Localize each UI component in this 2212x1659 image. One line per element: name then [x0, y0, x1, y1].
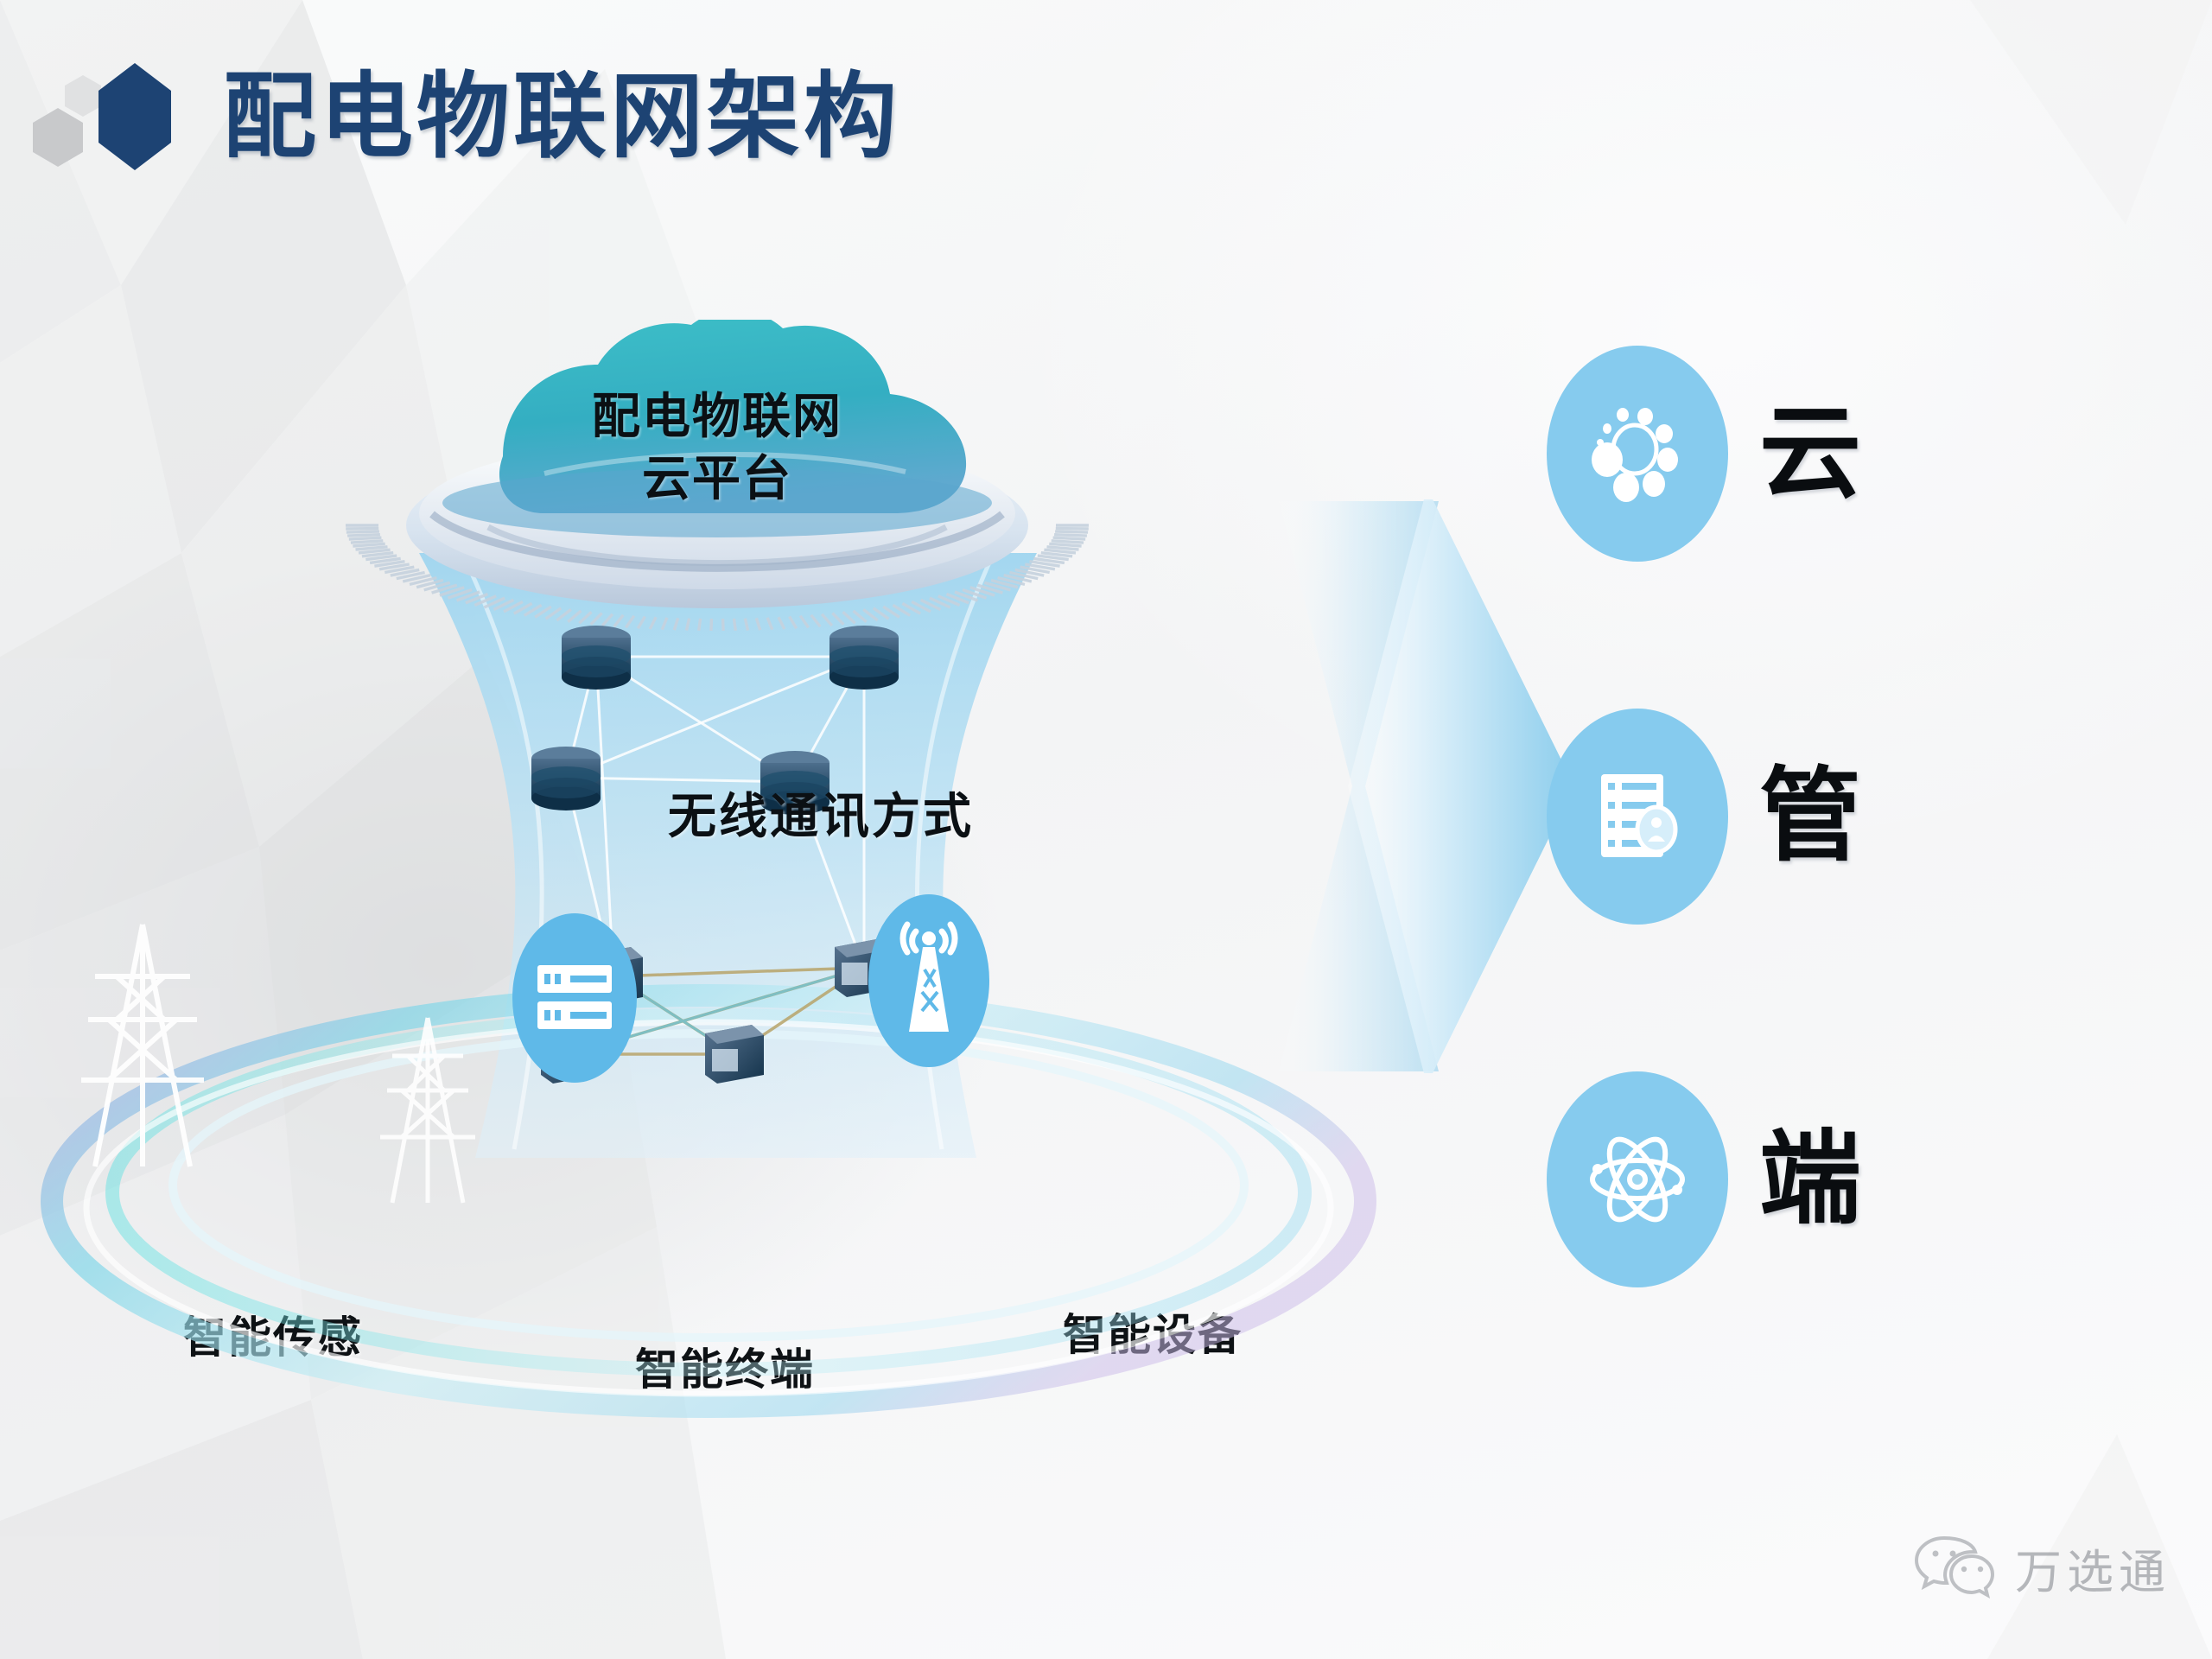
- field-device-layer: [0, 950, 1400, 1512]
- legend-label-edge: 端: [1759, 1128, 1863, 1230]
- watermark-label: 万选通: [2015, 1534, 2171, 1602]
- wireless-network-label: 无线通讯方式: [518, 778, 1123, 848]
- cloud-label-line1: 配电物联网: [285, 385, 1149, 448]
- atom-icon: [1547, 1071, 1728, 1287]
- legend-ellipse-pipe: [1547, 709, 1728, 925]
- cloud-dots-cluster-icon: [1547, 346, 1728, 562]
- legend-item-cloud[interactable]: 云: [1547, 346, 1863, 562]
- cloud-label-line2: 云平台: [285, 448, 1149, 510]
- legend-label-pipe: 管: [1759, 766, 1863, 868]
- hexagon-large-navy-icon: [97, 62, 173, 171]
- cell-tower-badge: [864, 890, 994, 1071]
- legend-item-edge[interactable]: 端: [1547, 1071, 1863, 1287]
- page-title: 配电物联网架构: [223, 41, 900, 176]
- slide-header: 配电物联网架构: [0, 0, 2212, 199]
- server-database-icon: [1547, 709, 1728, 925]
- legend-item-pipe[interactable]: 管: [1547, 709, 1863, 925]
- slide-canvas: 配电物联网架构: [0, 0, 2212, 1659]
- legend-ellipse-cloud: [1547, 346, 1728, 562]
- server-rack-badge: [510, 912, 639, 1084]
- legend-label-cloud: 云: [1759, 403, 1863, 505]
- layer-legend-column: 云: [1547, 346, 2082, 1365]
- watermark: 万选通: [1913, 1533, 2171, 1602]
- cloud-platform-block: 配电物联网 云平台: [285, 320, 1149, 648]
- hexagon-bullet-group: [21, 62, 194, 175]
- hexagon-medium-gray-icon: [31, 107, 85, 168]
- legend-ellipse-edge: [1547, 1071, 1728, 1287]
- cloud-platform-label: 配电物联网 云平台: [285, 385, 1149, 509]
- wechat-icon: [1913, 1533, 1996, 1602]
